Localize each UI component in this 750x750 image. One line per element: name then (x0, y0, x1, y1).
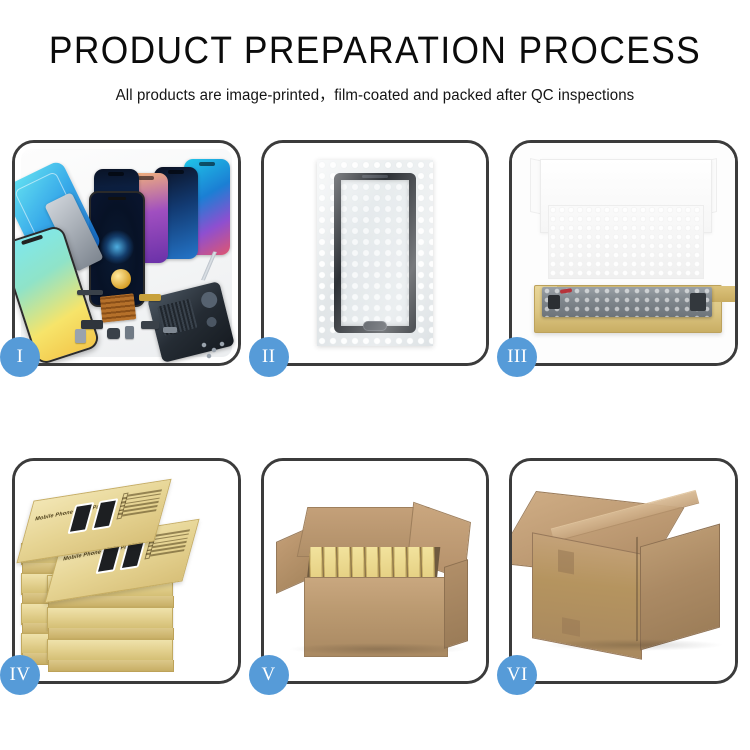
stacked-boxes-photo: Mobile Phone Spare Parts Mobile Phone Sp… (15, 461, 238, 681)
box-product-thumbnails (67, 498, 118, 534)
step-badge-4: IV (0, 655, 40, 695)
step-badge-5: V (249, 655, 289, 695)
wrapped-product-in-box (542, 287, 712, 317)
parts-photo (15, 143, 238, 363)
box-side-face (48, 660, 174, 672)
carton-shadow (288, 643, 468, 655)
wrapped-screen-assembly (334, 173, 416, 333)
step-panel-6[interactable]: VI (509, 458, 738, 684)
step-photo-4: Mobile Phone Spare Parts Mobile Phone Sp… (15, 461, 238, 681)
screws-icon (200, 341, 226, 359)
vibrator-motor-part (141, 321, 159, 329)
step-photo-5 (264, 461, 487, 681)
carton-right-face (444, 559, 468, 649)
battery-connector-part (107, 328, 120, 339)
carton-shadow (544, 639, 724, 651)
flex-cable-part (77, 290, 103, 295)
red-label-mark (560, 288, 572, 294)
step-badge-1: I (0, 337, 40, 377)
step-panel-2[interactable]: II (261, 140, 490, 366)
sim-tray-part (125, 326, 134, 339)
step-badge-6: VI (497, 655, 537, 695)
page-title: PRODUCT PREPARATION PROCESS (26, 32, 724, 72)
step-panel-5[interactable]: V (261, 458, 490, 684)
gold-flex-part (139, 294, 161, 301)
box-stack: Mobile Phone Spare Parts Mobile Phone Sp… (19, 479, 231, 669)
step-photo-2 (264, 143, 487, 363)
thumb-phone-front (67, 502, 94, 534)
camera-module-part (81, 320, 103, 329)
step-panel-1[interactable]: I (12, 140, 241, 366)
sealed-carton-photo (512, 461, 735, 681)
sealed-carton (532, 491, 718, 657)
carton-flap-tab (558, 549, 574, 574)
antenna-cable-part (163, 327, 177, 333)
step-photo-3 (512, 143, 735, 363)
carton-side-face (640, 524, 720, 651)
small-connector-part (75, 329, 86, 343)
page-subtitle: All products are image-printed，film-coat… (11, 83, 739, 105)
filled-carton-photo (264, 461, 487, 681)
box-checklist (122, 489, 162, 516)
phone-notch-icon (168, 170, 184, 174)
open-box-photo (512, 143, 735, 363)
foam-padding (548, 205, 704, 279)
thumb-phone-back (91, 498, 118, 530)
step-badge-3: III (497, 337, 537, 377)
phone-notch-icon (108, 172, 124, 176)
step-panel-3[interactable]: III (509, 140, 738, 366)
carton-flap-tab (562, 617, 580, 636)
stacked-box (47, 607, 173, 630)
step-badge-2: II (249, 337, 289, 377)
stacked-box (47, 639, 173, 662)
speaker-module-icon (111, 269, 131, 289)
step-photo-1 (15, 143, 238, 363)
tweezers-tool-icon (184, 248, 234, 284)
chip-array (100, 293, 137, 322)
step-photo-6 (512, 461, 735, 681)
phone-notch-icon (138, 176, 154, 180)
bubble-wrap-photo (264, 143, 487, 363)
page-header: PRODUCT PREPARATION PROCESS All products… (0, 0, 750, 105)
bubble-wrap-sheet (317, 160, 433, 346)
process-steps-grid: I II (12, 140, 738, 684)
open-carton (276, 485, 474, 661)
step-panel-4[interactable]: Mobile Phone Spare Parts Mobile Phone Sp… (12, 458, 241, 684)
phone-notch-icon (199, 162, 215, 166)
